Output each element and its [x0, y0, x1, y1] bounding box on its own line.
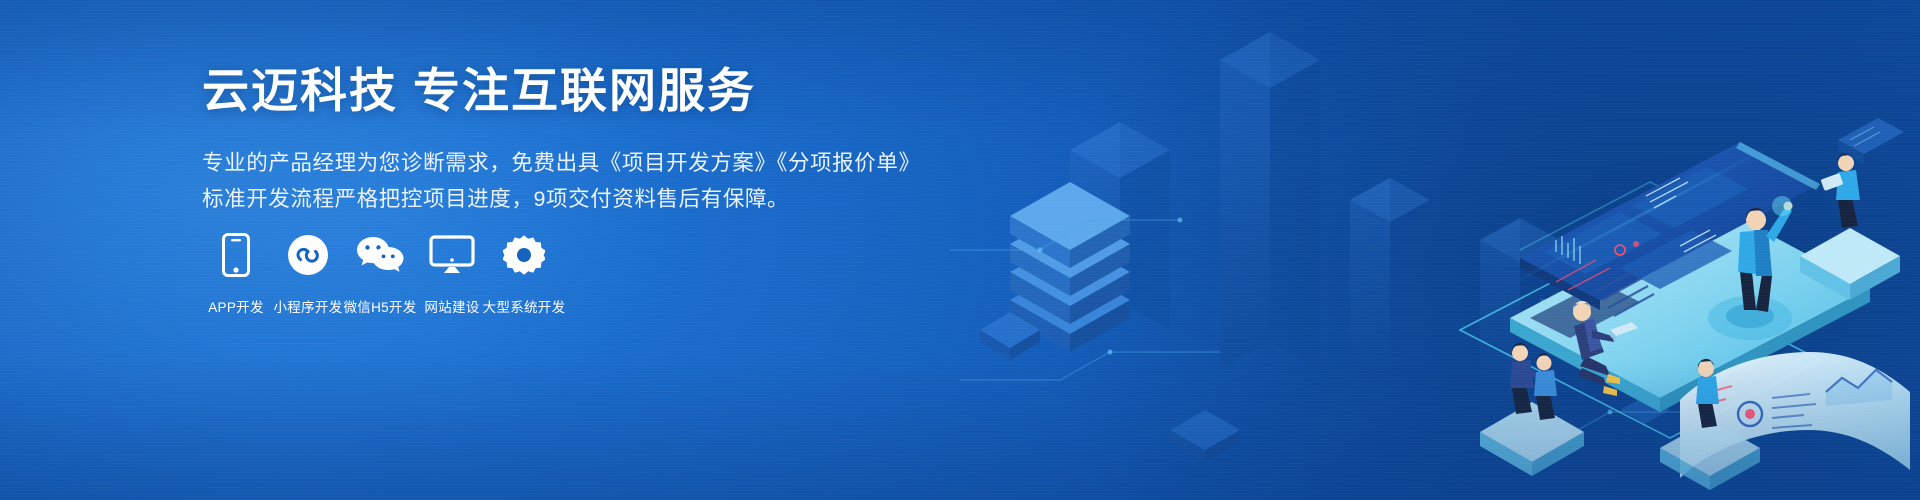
- service-label: 微信H5开发: [343, 296, 416, 316]
- service-item-wechat-h5[interactable]: 微信H5开发: [344, 232, 416, 316]
- page-title: 云迈科技 专注互联网服务: [202, 62, 962, 121]
- service-icon-row: APP开发 小程序开发: [200, 232, 560, 316]
- mobile-phone-icon: [222, 232, 250, 278]
- banner-subtitle-line-1: 专业的产品经理为您诊断需求，免费出具《项目开发方案》《分项报价单》: [202, 147, 962, 181]
- service-label: 小程序开发: [274, 296, 343, 316]
- service-item-app[interactable]: APP开发: [200, 232, 272, 316]
- wechat-icon: [355, 232, 405, 278]
- banner-content: 云迈科技 专注互联网服务 专业的产品经理为您诊断需求，免费出具《项目开发方案》《…: [202, 62, 962, 217]
- service-label: APP开发: [208, 296, 264, 316]
- service-item-website[interactable]: 网站建设: [416, 232, 488, 316]
- service-item-large-system[interactable]: 大型系统开发: [488, 232, 560, 316]
- monitor-icon: [429, 232, 475, 278]
- service-label: 大型系统开发: [483, 296, 566, 316]
- mini-program-icon: [287, 232, 329, 278]
- hero-banner: 云迈科技 专注互联网服务 专业的产品经理为您诊断需求，免费出具《项目开发方案》《…: [0, 0, 1920, 500]
- gear-icon: [503, 232, 545, 278]
- service-label: 网站建设: [424, 296, 479, 316]
- banner-subtitle-line-2: 标准开发流程严格把控项目进度，9项交付资料售后有保障。: [202, 183, 962, 217]
- service-item-mini-program[interactable]: 小程序开发: [272, 232, 344, 316]
